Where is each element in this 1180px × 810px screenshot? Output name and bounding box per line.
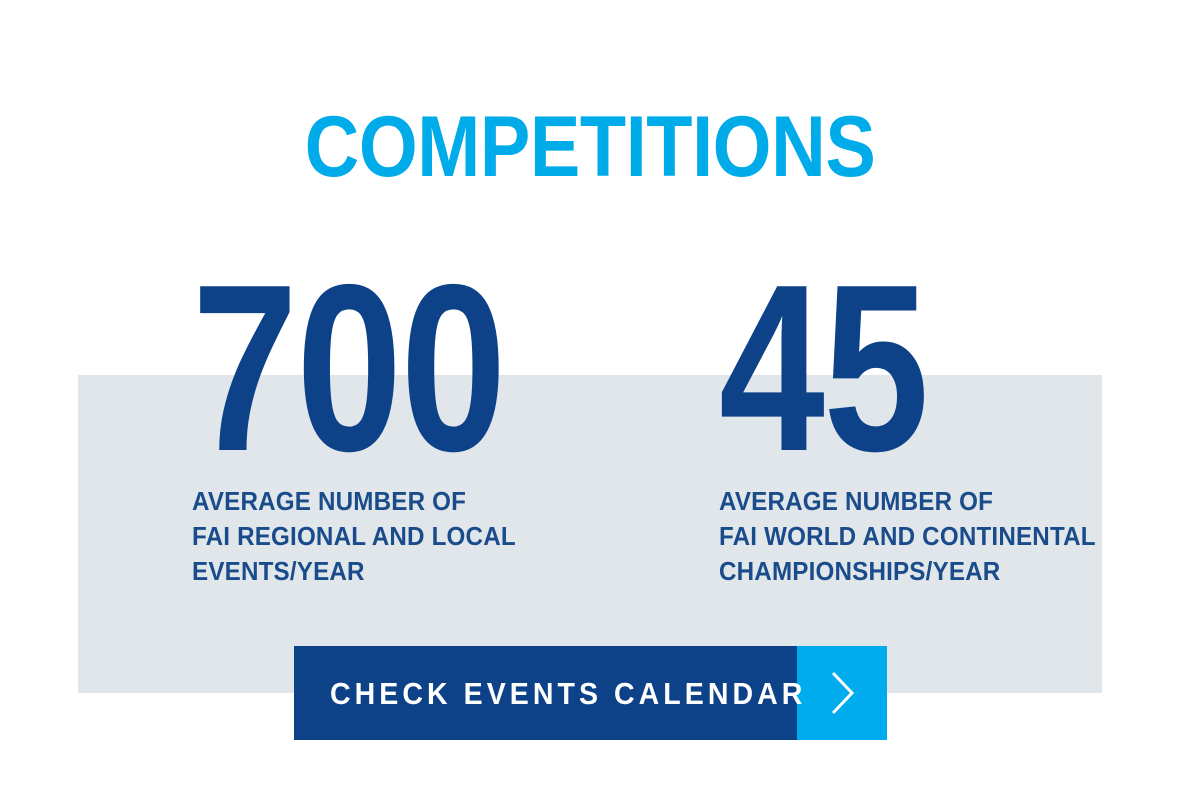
stat-block: 700 AVERAGE NUMBER OF FAI REGIONAL AND L… [192,276,583,589]
page-title: COMPETITIONS [71,104,1109,190]
stat-caption: AVERAGE NUMBER OF FAI REGIONAL AND LOCAL… [192,484,556,589]
stat-caption-line: EVENTS/YEAR [192,554,556,589]
stat-caption-line: AVERAGE NUMBER OF [719,484,1096,519]
stat-value: 45 [719,276,1043,462]
cta-label-box[interactable]: CHECK EVENTS CALENDAR [294,646,797,740]
chevron-right-icon [827,670,857,716]
stat-caption: AVERAGE NUMBER OF FAI WORLD AND CONTINEN… [719,484,1096,589]
stat-caption-line: CHAMPIONSHIPS/YEAR [719,554,1096,589]
competitions-stats-section: COMPETITIONS 700 AVERAGE NUMBER OF FAI R… [0,0,1180,810]
stat-caption-line: AVERAGE NUMBER OF [192,484,556,519]
stat-block: 45 AVERAGE NUMBER OF FAI WORLD AND CONTI… [719,276,1124,589]
cta-label: CHECK EVENTS CALENDAR [330,678,806,709]
cta-arrow-box[interactable] [797,646,887,740]
stat-value: 700 [192,276,505,462]
stat-caption-line: FAI REGIONAL AND LOCAL [192,519,556,554]
check-events-calendar-button[interactable]: CHECK EVENTS CALENDAR [294,646,887,740]
stat-caption-line: FAI WORLD AND CONTINENTAL [719,519,1096,554]
